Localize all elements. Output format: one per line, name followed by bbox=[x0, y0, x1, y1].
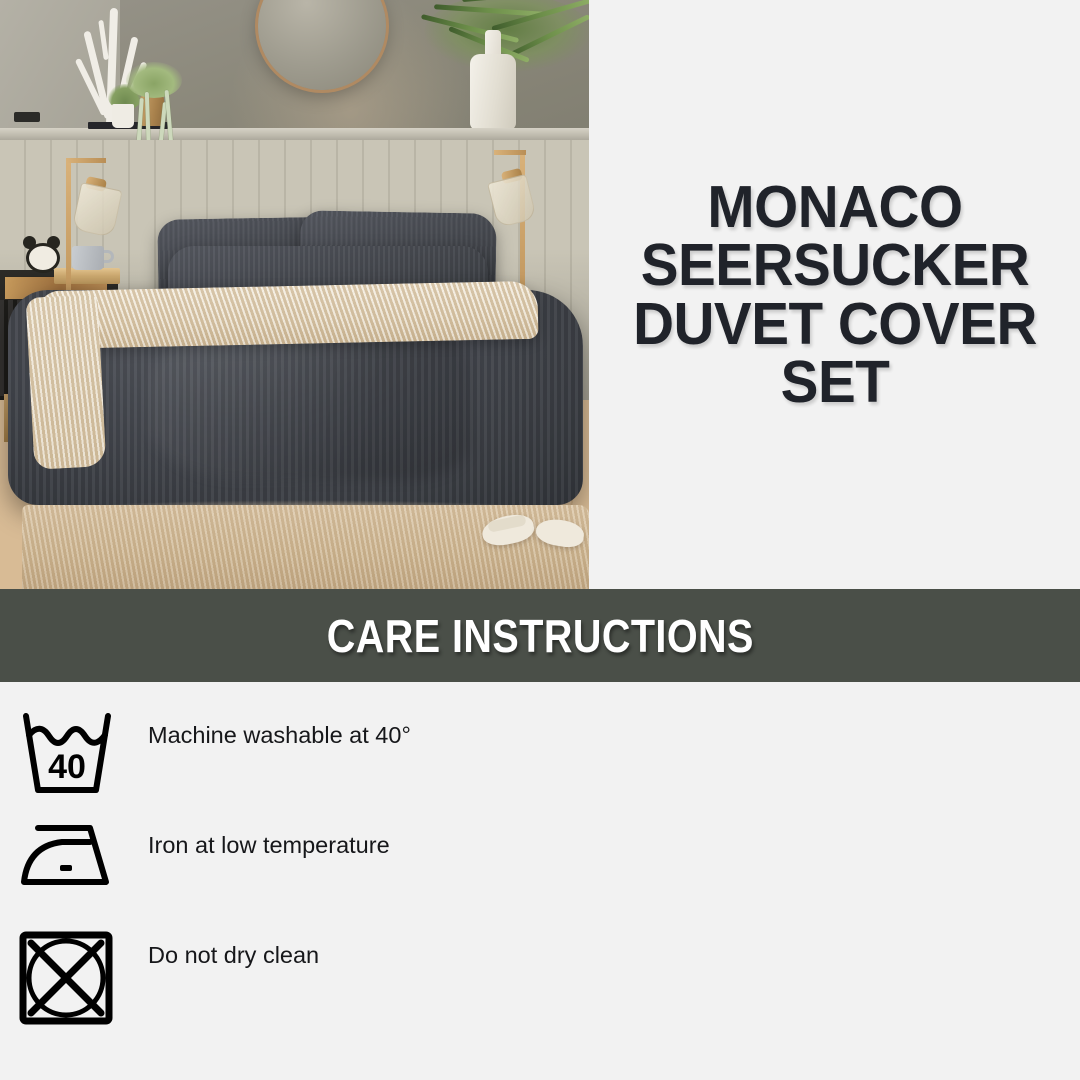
product-lifestyle-photo bbox=[0, 0, 589, 589]
iron-low-temperature-icon bbox=[18, 820, 122, 892]
care-instructions-banner: CARE INSTRUCTIONS bbox=[0, 589, 1080, 682]
care-item-do-not-dry-clean: Do not dry clean bbox=[0, 930, 545, 1048]
care-instructions-grid: 40 Machine washable at 40° Do not bleach bbox=[0, 682, 1080, 1080]
care-item-no-steam-ironing: Steam ironing may be a risk bbox=[545, 930, 1080, 1048]
title-panel: MONACO SEERSUCKER DUVET COVER SET bbox=[589, 0, 1080, 589]
page-title: MONACO SEERSUCKER DUVET COVER SET bbox=[614, 178, 1056, 412]
cream-throw-drape bbox=[26, 294, 107, 470]
cream-throw bbox=[37, 281, 538, 349]
lamp-arm-left bbox=[66, 158, 106, 163]
coral-base bbox=[14, 112, 40, 122]
product-care-card: MONACO SEERSUCKER DUVET COVER SET CARE I… bbox=[0, 0, 1080, 1080]
lamp-arm-right bbox=[494, 150, 526, 155]
grey-mug bbox=[72, 246, 104, 270]
care-item-tumble-dry-low: Tumble dry at low temperature bbox=[545, 820, 1080, 930]
care-label: Machine washable at 40° bbox=[148, 710, 448, 751]
care-instructions-heading: CARE INSTRUCTIONS bbox=[326, 609, 753, 663]
white-vase bbox=[470, 54, 516, 130]
hero-section: MONACO SEERSUCKER DUVET COVER SET bbox=[0, 0, 1080, 589]
care-item-do-not-bleach: Do not bleach bbox=[545, 710, 1080, 820]
care-item-machine-wash: 40 Machine washable at 40° bbox=[0, 710, 545, 820]
do-not-dry-clean-icon bbox=[18, 930, 122, 1026]
wash-temperature-label: 40 bbox=[48, 748, 86, 786]
stacked-books bbox=[54, 268, 120, 284]
care-item-iron-low: Iron at low temperature bbox=[0, 820, 545, 930]
care-label: Do not dry clean bbox=[148, 930, 448, 971]
care-label: Iron at low temperature bbox=[148, 820, 448, 861]
wash-tub-40-icon: 40 bbox=[18, 710, 122, 796]
